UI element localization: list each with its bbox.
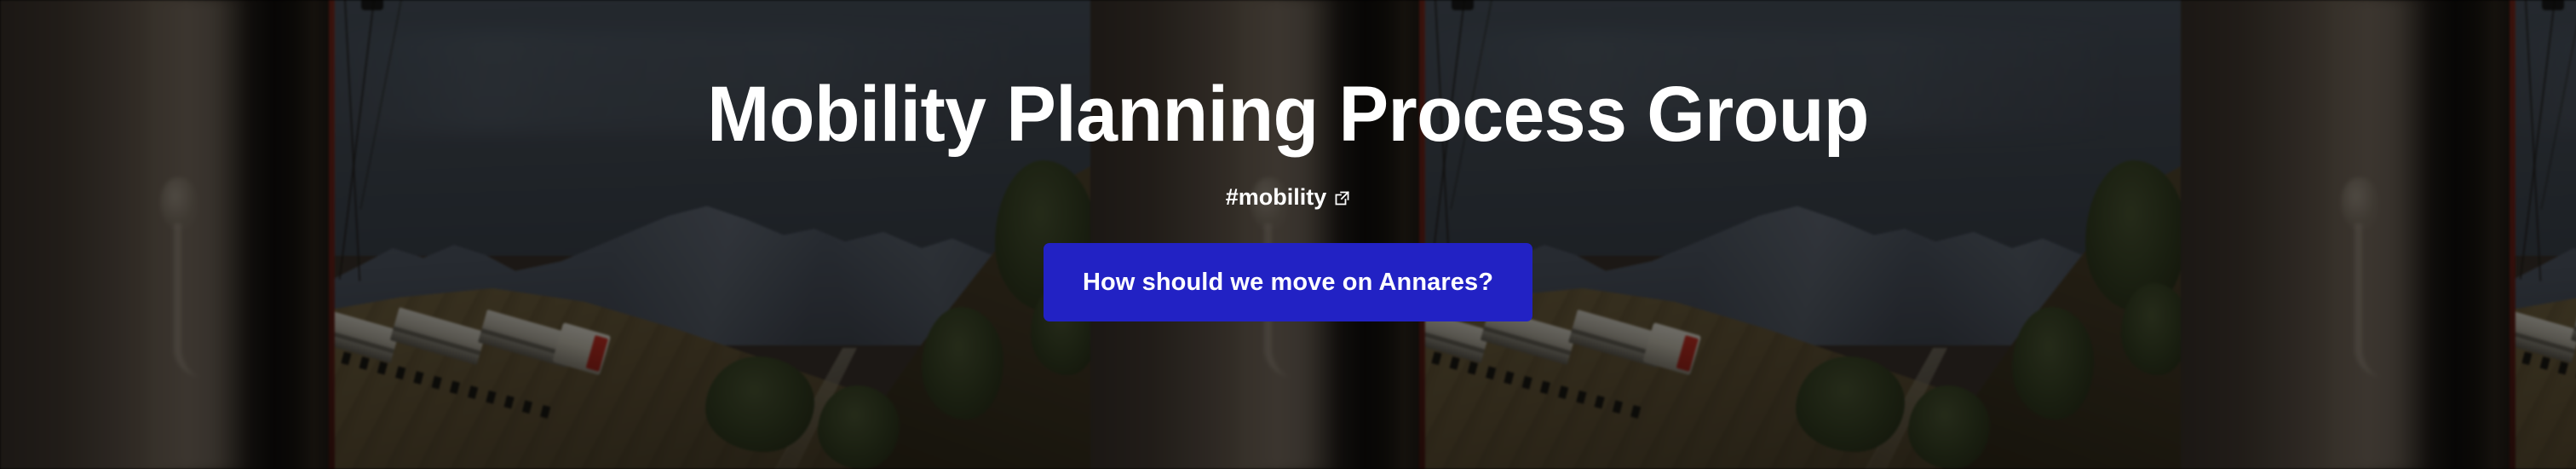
hashtag-label: #mobility (1226, 186, 1327, 209)
cta-button[interactable]: How should we move on Annares? (1044, 243, 1532, 321)
hero-banner: Mobility Planning Process Group #mobilit… (0, 0, 2576, 469)
hashtag-link[interactable]: #mobility (1226, 186, 1351, 209)
page-title: Mobility Planning Process Group (707, 75, 1869, 153)
external-link-icon (1334, 190, 1350, 206)
hero-content: Mobility Planning Process Group #mobilit… (0, 0, 2576, 469)
